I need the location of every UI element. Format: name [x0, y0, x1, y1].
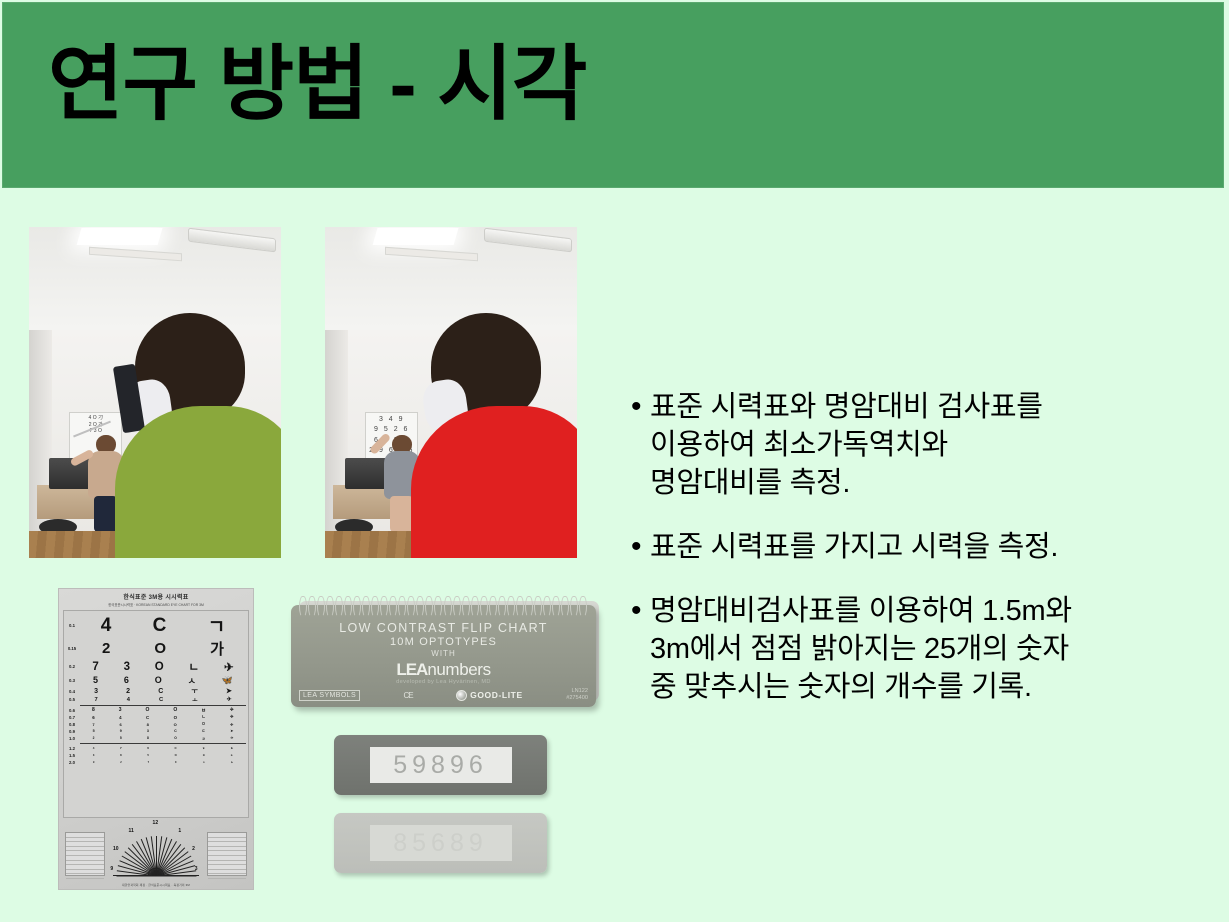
spiral-coil [480, 596, 488, 617]
list-item: • 표준 시력표와 명암대비 검사표를 이용하여 최소가독역치와 명암대비를 측… [626, 388, 1206, 502]
optotype-glyph: ㄱ [208, 612, 225, 639]
good-lite-text: GOOD-LITE [470, 690, 523, 700]
spiral-coil [489, 596, 497, 617]
fan-number: 2 [192, 846, 195, 852]
optotype-glyph: ㅎ [202, 746, 205, 750]
optotype-glyph: 7 [148, 761, 149, 764]
optotype-glyph: ㄴ [189, 659, 200, 675]
room-scene: 4 O 刁 2 O 가 7 3 O [29, 227, 281, 558]
acuity-label: 1.0 [65, 736, 79, 741]
eye-chart-row: 1.2476Cㅎ➤ [80, 745, 246, 752]
examiner-legs [390, 496, 414, 532]
low-contrast-band: 85689 [370, 825, 512, 861]
lea-brand-mark: LEA [396, 660, 427, 679]
optotype-glyph: O [175, 754, 177, 757]
air-conditioner [484, 228, 572, 253]
bullet-list: • 표준 시력표와 명암대비 검사표를 이용하여 최소가독역치와 명암대비를 측… [626, 388, 1206, 732]
participant-person [421, 313, 577, 558]
flip-chart-title-line-3: WITH [291, 649, 596, 658]
low-contrast-flip-chart: LOW CONTRAST FLIP CHART 10M OPTOTYPES WI… [291, 605, 596, 707]
optotype-glyph: 3 [94, 688, 98, 695]
flip-chart-footer: LEA SYMBOLS CE GOOD-LITE LN122 #275400 [299, 688, 588, 702]
optotype-glyph: 6 [120, 722, 122, 727]
spiral-coil [317, 596, 325, 617]
optotype-glyph: ㅅ [188, 674, 196, 687]
acuity-label: 0.8 [65, 722, 79, 727]
spiral-coil [579, 596, 587, 617]
spiral-coil [416, 596, 424, 617]
fan-number: 3 [195, 866, 198, 872]
optotype-glyph: 7 [92, 722, 94, 727]
fan-number: 12 [153, 820, 159, 826]
high-contrast-band: 59896 [370, 747, 512, 783]
bullet-marker-icon: • [626, 528, 650, 566]
spiral-coil [453, 596, 461, 617]
spiral-coil [570, 596, 578, 617]
eye-chart-row: 0.574Cㅗ✈ [80, 696, 246, 704]
optotype-glyph: 가 [210, 638, 224, 659]
acuity-label: 0.15 [65, 646, 79, 651]
spiral-coil [516, 596, 524, 617]
spiral-coil [434, 596, 442, 617]
optotype-glyph: 8 [147, 722, 149, 727]
spiral-coil [534, 596, 542, 617]
low-contrast-card: 85689 [334, 813, 547, 873]
eye-chart-row: 1.5385Oㅍ✈ [80, 752, 246, 759]
bullet-marker-icon: • [626, 388, 650, 426]
spiral-coil [525, 596, 533, 617]
room-scene: 3 4 9 9 5 2 6 6 4 3 2 2 9 6 5 5 [325, 227, 577, 558]
optotype-glyph: 4 [119, 715, 121, 720]
part-code-line-2: #275400 [566, 695, 588, 701]
participant-person [125, 313, 281, 558]
reference-table-row [208, 874, 246, 879]
optotype-glyph: 5 [120, 736, 122, 740]
numbers-brand-text: numbers [427, 660, 490, 679]
optotype-glyph: ✈ [230, 722, 233, 727]
ceiling-light-icon [77, 228, 163, 245]
optotype-glyph: 6 [124, 675, 129, 685]
optotype-glyph: 4 [93, 746, 95, 750]
ceiling-light-icon [373, 228, 459, 245]
optotype-glyph: 8 [92, 707, 95, 713]
list-item: • 명암대비검사표를 이용하여 1.5m와 3m에서 점점 밝아지는 25개의 … [626, 592, 1206, 706]
optotype-glyph: 2 [93, 736, 95, 740]
optotype-glyph: ㄷ [202, 729, 205, 734]
acuity-label: 0.2 [65, 664, 79, 669]
spiral-coil [380, 596, 388, 617]
lea-numbers-brand: LEAnumbers [291, 660, 596, 680]
optotype-glyph: ➤ [231, 746, 234, 750]
spiral-coil [507, 596, 515, 617]
optotype-glyph: O [145, 707, 149, 713]
bullet-text: 명암대비검사표를 이용하여 1.5m와 3m에서 점점 밝아지는 25개의 숫자… [650, 592, 1072, 706]
optotype-glyph: 5 [93, 729, 95, 733]
optotype-glyph: O [154, 640, 166, 657]
eye-chart-row: 0.764COㄴ✈ [80, 714, 246, 721]
optotype-glyph: 9 [93, 761, 94, 764]
eye-chart-row: 0.273Oㄴ✈ [80, 659, 246, 675]
spiral-coil [299, 596, 307, 617]
flip-chart-developer-credit: developed by Lea Hyvärinen, MD [291, 679, 596, 685]
optotype-glyph: 4 [101, 615, 112, 637]
fan-number: 11 [128, 828, 133, 834]
optotype-glyph: ✈ [231, 736, 234, 740]
page-title: 연구 방법 - 시각 [48, 38, 586, 132]
low-contrast-digits: 85689 [393, 829, 488, 858]
lea-symbols-logo: LEA SYMBOLS [299, 690, 360, 701]
optotype-glyph: ㅇ [203, 760, 205, 764]
optotype-glyph: ➤ [230, 729, 233, 733]
optotype-glyph: C [158, 688, 163, 695]
ceiling-vent [385, 246, 478, 261]
spiral-coil [326, 596, 334, 617]
acuity-label: 0.9 [65, 729, 79, 734]
examiner-legs [94, 496, 118, 532]
spiral-coil [444, 596, 452, 617]
optotype-glyph: 2 [126, 688, 130, 695]
spiral-coil [561, 596, 569, 617]
korean-standard-eye-chart: 한식표준 3M용 시시력표 한국표준시시력표 · KOREAN STANDARD… [58, 588, 254, 890]
optotype-glyph: 7 [95, 697, 98, 703]
eye-chart-row: 0.9593Cㄷ➤ [80, 728, 246, 735]
acuity-label: 1.2 [65, 746, 79, 751]
spiral-binding-icon [299, 596, 587, 616]
list-item: • 표준 시력표를 가지고 시력을 측정. [626, 528, 1206, 566]
optotype-glyph: 3 [147, 729, 149, 733]
fan-number: 9 [110, 866, 113, 872]
optotype-glyph: 2 [120, 761, 121, 764]
optotype-glyph: ㅁ [202, 721, 206, 727]
ce-mark-icon: CE [404, 691, 413, 700]
optotype-glyph: ➤ [231, 761, 233, 764]
optotype-glyph: 4 [127, 697, 130, 703]
eye-chart-rows: 0.14Cㄱ0.152O가0.273Oㄴ✈0.356Oㅅ🦋0.432Cㅜ➤0.5… [63, 610, 249, 818]
optotype-glyph: 3 [119, 707, 122, 713]
air-conditioner [188, 228, 276, 253]
eye-chart-row: 0.356Oㅅ🦋 [80, 674, 246, 686]
spiral-coil [543, 596, 551, 617]
reference-table-left [65, 832, 105, 876]
optotype-glyph: ✈ [224, 660, 234, 674]
optotype-glyph: O [174, 715, 177, 720]
eye-chart-title: 한식표준 3M용 시시력표 [63, 592, 249, 601]
chart-divider [80, 705, 246, 706]
reference-table-right [207, 832, 247, 876]
optotype-glyph: 3 [124, 661, 130, 673]
eye-chart-row: 0.14Cㄱ [80, 613, 246, 639]
spiral-coil [353, 596, 361, 617]
optotype-glyph: ㅍ [203, 753, 205, 757]
optotype-glyph: O [173, 707, 177, 713]
spiral-coil [462, 596, 470, 617]
flip-chart-title-line-2: 10M OPTOTYPES [291, 636, 596, 648]
reference-table-row [66, 874, 104, 879]
spiral-coil [371, 596, 379, 617]
title-banner: 연구 방법 - 시각 [2, 2, 1224, 188]
optotype-glyph: 3 [93, 754, 95, 757]
high-contrast-digits: 59896 [393, 751, 488, 780]
ceiling-vent [89, 246, 182, 261]
fan-number: 10 [113, 846, 119, 852]
spiral-coil [552, 596, 560, 617]
spiral-coil [471, 596, 479, 617]
acuity-label: 0.1 [65, 623, 79, 628]
acuity-label: 0.3 [65, 678, 79, 683]
optotype-glyph: C [174, 729, 177, 733]
astigmatic-fan-dial: 1211109123 [63, 820, 249, 882]
participant-shirt [411, 406, 577, 558]
optotype-glyph: C [159, 697, 163, 703]
optotype-glyph: 6 [147, 746, 149, 750]
good-lite-logo: GOOD-LITE [456, 690, 523, 701]
acuity-label: 0.5 [65, 697, 79, 702]
fan-ray [157, 876, 197, 877]
spiral-coil [389, 596, 397, 617]
slide-canvas: 연구 방법 - 시각 4 O 刁 2 O 가 7 3 O [0, 0, 1229, 922]
exam-room-photo-2: 3 4 9 9 5 2 6 6 4 3 2 2 9 6 5 5 [325, 227, 577, 558]
eye-chart-row: 1.0258Oㄹ✈ [80, 735, 246, 742]
optotype-glyph: 8 [147, 736, 149, 740]
optotype-glyph: O [174, 736, 177, 740]
eye-chart-footer: 대한안과학회 제정 · 한식표준시시력표 · 측정거리 3M [63, 883, 249, 887]
optotype-glyph: C [146, 715, 149, 720]
optotype-glyph: C [175, 746, 177, 750]
optotype-glyph: O [174, 722, 177, 727]
flip-chart-title-line-1: LOW CONTRAST FLIP CHART [291, 621, 596, 635]
bullet-text: 표준 시력표를 가지고 시력을 측정. [650, 528, 1058, 566]
spiral-coil [498, 596, 506, 617]
bullet-text: 표준 시력표와 명암대비 검사표를 이용하여 최소가독역치와 명암대비를 측정. [650, 388, 1043, 502]
optotype-glyph: C [153, 615, 167, 637]
spiral-coil [425, 596, 433, 617]
part-code-line-1: LN122 [572, 688, 588, 694]
acuity-label: 1.5 [65, 753, 79, 758]
optotype-glyph: ㄹ [202, 736, 205, 741]
optotype-glyph: ㅂ [201, 707, 206, 714]
eye-chart-row: 0.152O가 [80, 639, 246, 659]
exam-room-photo-1: 4 O 刁 2 O 가 7 3 O [29, 227, 281, 558]
participant-shirt [115, 406, 281, 558]
optotype-glyph: O [155, 675, 162, 685]
eye-chart-row: 0.8768Oㅁ✈ [80, 721, 246, 728]
optotype-glyph: ➤ [226, 687, 232, 695]
spiral-coil [344, 596, 352, 617]
chart-divider [80, 743, 246, 744]
optotype-glyph: ✈ [230, 707, 234, 713]
acuity-label: 2.0 [65, 760, 79, 765]
optotype-glyph: ✈ [227, 697, 232, 703]
optotype-glyph: 2 [102, 640, 110, 657]
fan-number: 1 [178, 828, 181, 834]
acuity-label: 0.4 [65, 689, 79, 694]
flip-chart-part-number: LN122 #275400 [566, 688, 588, 702]
optotype-glyph: O [155, 661, 164, 673]
optotype-glyph: C [175, 761, 177, 764]
optotype-glyph: 9 [120, 729, 122, 733]
optotype-glyph: 6 [92, 715, 94, 720]
eye-chart-row: 2.0927Cㅇ➤ [80, 759, 246, 766]
spiral-coil [362, 596, 370, 617]
optotype-glyph: ㅗ [192, 695, 197, 704]
optotype-glyph: 7 [120, 746, 122, 750]
good-lite-dot-icon [456, 690, 467, 701]
eye-chart-row: 0.432Cㅜ➤ [80, 687, 246, 696]
spiral-coil [407, 596, 415, 617]
optotype-glyph: ㄴ [202, 714, 206, 720]
spiral-coil [308, 596, 316, 617]
eye-chart-subtitle: 한국표준시시력표 · KOREAN STANDARD EYE CHART FOR… [63, 602, 249, 607]
optotype-glyph: ✈ [231, 753, 233, 757]
fan-rays: 1211109123 [113, 830, 199, 876]
optotype-glyph: 5 [147, 754, 149, 757]
optotype-glyph: 🦋 [222, 675, 233, 686]
eye-chart-row: 0.683OOㅂ✈ [80, 707, 246, 714]
acuity-label: 0.6 [65, 708, 79, 713]
high-contrast-card: 59896 [334, 735, 547, 795]
optotype-glyph: 7 [92, 661, 98, 673]
spiral-coil [398, 596, 406, 617]
acuity-label: 0.7 [65, 715, 79, 720]
optotype-glyph: 5 [93, 675, 98, 685]
optotype-glyph: ✈ [230, 714, 234, 720]
bullet-marker-icon: • [626, 592, 650, 630]
spiral-coil [335, 596, 343, 617]
optotype-glyph: 8 [120, 754, 122, 757]
